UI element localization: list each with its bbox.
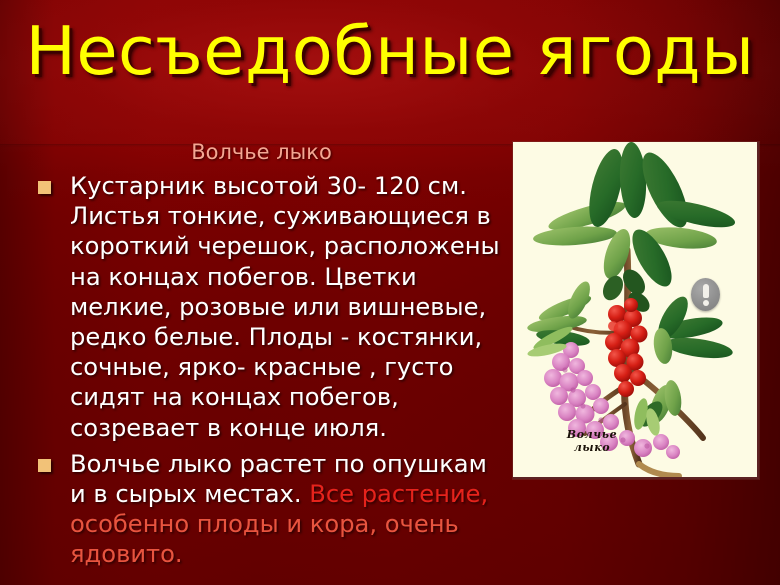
slide-subtitle: Волчье лыко	[34, 140, 489, 164]
presentation-slide: Несъедобные ягоды Волчье лыко Кустарник …	[0, 0, 780, 585]
slide-title: Несъедобные ягоды	[0, 18, 780, 85]
list-item: Кустарник высотой 30- 120 см. Листья тон…	[30, 171, 500, 443]
plant-drawing	[513, 142, 757, 477]
illustration-caption-line-2: лыко	[537, 441, 647, 454]
square-bullet-icon	[38, 181, 51, 194]
illustration-caption-line-1: Волчье	[537, 428, 647, 441]
illustration-caption: Волчье лыко	[537, 428, 647, 454]
warning-text-primary: Все растение,	[309, 480, 488, 508]
slide-body: Кустарник высотой 30- 120 см. Листья тон…	[30, 171, 500, 576]
list-item: Волчье лыко растет по опушкам и в сырых …	[30, 449, 500, 570]
square-bullet-icon	[38, 459, 51, 472]
exclamation-dot-icon	[703, 300, 709, 306]
botanical-illustration: Волчье лыко	[513, 142, 759, 479]
exclamation-icon	[703, 284, 709, 298]
list-item-text: Волчье лыко растет по опушкам и в сырых …	[70, 450, 488, 569]
poison-warning-badge	[691, 278, 720, 311]
list-item-text: Кустарник высотой 30- 120 см. Листья тон…	[70, 172, 500, 442]
warning-text-secondary: особенно плоды и кора, очень ядовито.	[70, 510, 459, 568]
